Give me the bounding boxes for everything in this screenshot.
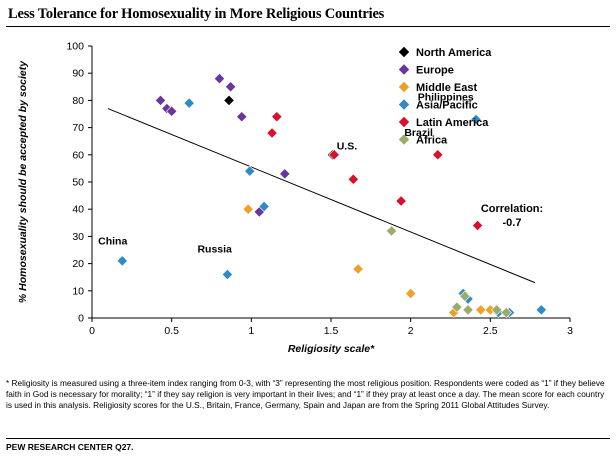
data-point [472, 220, 482, 230]
title-divider [6, 26, 610, 27]
y-tick-label: 70 [72, 122, 84, 134]
legend-label: Middle East [416, 82, 477, 94]
point-annotation: Russia [197, 244, 232, 256]
legend-label: Africa [416, 135, 448, 147]
correlation-value: -0.7 [503, 217, 522, 229]
data-point [243, 204, 253, 214]
correlation-label: Correlation: [481, 203, 543, 215]
x-tick-label: 1 [248, 325, 254, 337]
data-point [463, 305, 473, 315]
point-annotation: U.S. [337, 140, 358, 152]
data-point [117, 256, 127, 266]
y-tick-label: 0 [78, 313, 84, 325]
y-axis-label: % Homosexuality should be accepted by so… [17, 60, 29, 303]
legend-label: Latin America [416, 117, 489, 129]
x-tick-label: 3 [567, 325, 573, 337]
legend-label: Asia/Pacific [416, 100, 478, 112]
chart-area: 010203040506070809010000.511.522.53% Hom… [0, 30, 616, 370]
y-tick-label: 80 [72, 95, 84, 107]
data-point [267, 128, 277, 138]
data-point [280, 169, 290, 179]
footnote-divider [6, 438, 610, 439]
x-tick-label: 2 [408, 325, 414, 337]
x-axis-label: Religiosity scale* [288, 343, 375, 355]
data-point [225, 82, 235, 92]
trend-line [108, 109, 535, 283]
page-title: Less Tolerance for Homosexuality in More… [8, 6, 384, 23]
data-point [224, 95, 234, 105]
data-point [353, 264, 363, 274]
data-point [214, 73, 224, 83]
data-point [476, 305, 486, 315]
y-tick-label: 10 [72, 285, 84, 297]
legend-marker [399, 117, 409, 127]
x-tick-label: 0 [89, 325, 95, 337]
x-tick-label: 2.5 [483, 325, 498, 337]
legend-marker [399, 99, 409, 109]
footnote: * Religiosity is measured using a three-… [6, 378, 610, 411]
data-point [405, 288, 415, 298]
y-tick-label: 60 [72, 149, 84, 161]
y-tick-label: 30 [72, 231, 84, 243]
data-point [184, 98, 194, 108]
data-point [386, 226, 396, 236]
data-point [222, 269, 232, 279]
x-tick-label: 1.5 [324, 325, 339, 337]
y-tick-label: 40 [72, 204, 84, 216]
y-tick-label: 50 [72, 177, 84, 189]
data-point [396, 196, 406, 206]
data-point [155, 95, 165, 105]
legend-marker [399, 82, 409, 92]
data-point [433, 150, 443, 160]
y-tick-label: 20 [72, 258, 84, 270]
source-line: PEW RESEARCH CENTER Q27. [6, 442, 134, 452]
y-tick-label: 100 [66, 41, 84, 53]
x-tick-label: 0.5 [164, 325, 179, 337]
legend-label: Europe [416, 65, 454, 77]
point-annotation: China [98, 236, 127, 248]
data-point [348, 174, 358, 184]
scatter-plot: 010203040506070809010000.511.522.53% Hom… [0, 30, 616, 370]
legend-marker [399, 47, 409, 57]
data-point [536, 305, 546, 315]
legend-marker [399, 64, 409, 74]
y-tick-label: 90 [72, 68, 84, 80]
legend-label: North America [416, 47, 492, 59]
data-point [272, 112, 282, 122]
data-point [237, 112, 247, 122]
